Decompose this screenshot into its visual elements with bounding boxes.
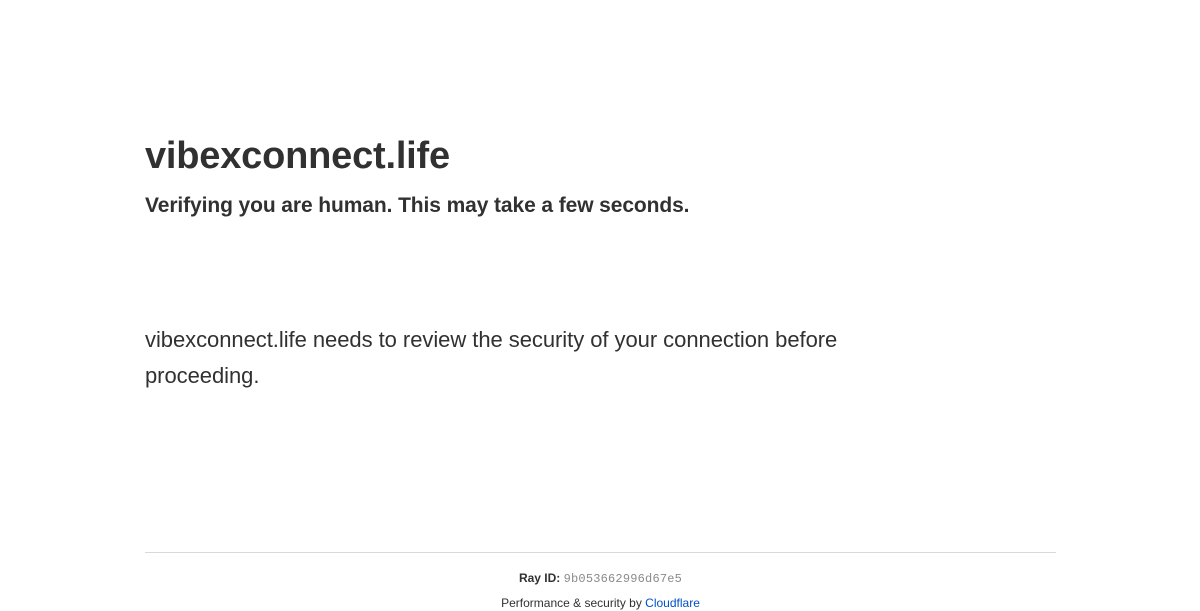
ray-id-label: Ray ID:: [519, 571, 560, 585]
challenge-page: vibexconnect.life Verifying you are huma…: [145, 0, 1056, 600]
page-footer: Ray ID: 9b053662996d67e5 Performance & s…: [145, 552, 1056, 611]
ray-id-value: 9b053662996d67e5: [564, 572, 682, 586]
turnstile-challenge-widget[interactable]: [145, 240, 465, 310]
verification-status-text: Verifying you are human. This may take a…: [145, 192, 689, 219]
page-title: vibexconnect.life: [145, 133, 450, 179]
challenge-description: vibexconnect.life needs to review the se…: [145, 322, 955, 394]
ray-id-row: Ray ID: 9b053662996d67e5: [145, 553, 1056, 587]
footer-credit-prefix: Performance & security by: [501, 596, 645, 610]
cloudflare-link[interactable]: Cloudflare: [645, 596, 700, 610]
footer-credit-row: Performance & security by Cloudflare: [145, 587, 1056, 611]
